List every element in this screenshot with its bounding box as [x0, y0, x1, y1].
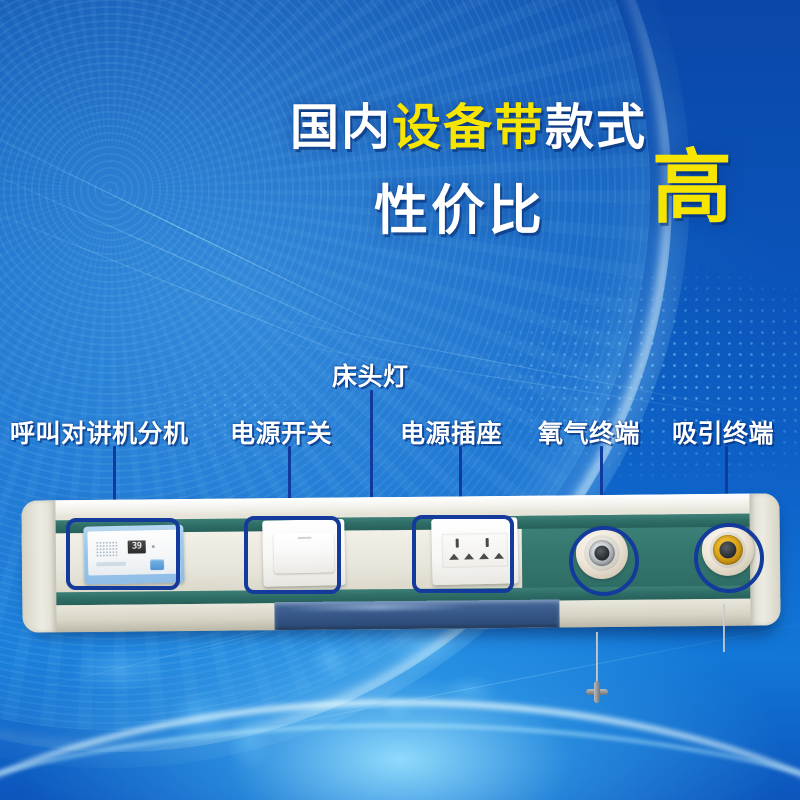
panel-top-highlight — [21, 493, 779, 516]
callout-label-power-socket: 电源插座 — [400, 414, 502, 450]
callout-group: 呼叫对讲机分机 电源开关 床头灯 电源插座 氧气终端 吸引终端 — [0, 0, 800, 800]
callout-label-oxygen-terminal: 氧气终端 — [538, 414, 640, 450]
product-banner: 国内设备带款式 性价比 高 呼叫对讲机分机 电源开关 床头灯 电源插座 氧气终端… — [0, 0, 800, 800]
highlight-circle-oxygen-terminal — [569, 526, 639, 596]
suction-drain-tube — [723, 604, 725, 652]
callout-label-bed-lamp: 床头灯 — [332, 357, 409, 393]
highlight-box-power-socket — [412, 515, 514, 593]
panel-end-cap-left — [21, 500, 56, 632]
callout-label-suction-terminal: 吸引终端 — [672, 414, 774, 450]
highlight-box-power-switch — [244, 516, 341, 594]
pull-cord-rod[interactable] — [596, 632, 598, 684]
cross-grip-icon[interactable] — [586, 681, 608, 703]
callout-label-intercom: 呼叫对讲机分机 — [10, 414, 189, 450]
callout-label-power-switch: 电源开关 — [230, 414, 332, 450]
highlight-circle-suction-terminal — [694, 523, 764, 593]
highlight-box-intercom — [66, 518, 180, 590]
grip-bar-vertical — [594, 681, 600, 703]
